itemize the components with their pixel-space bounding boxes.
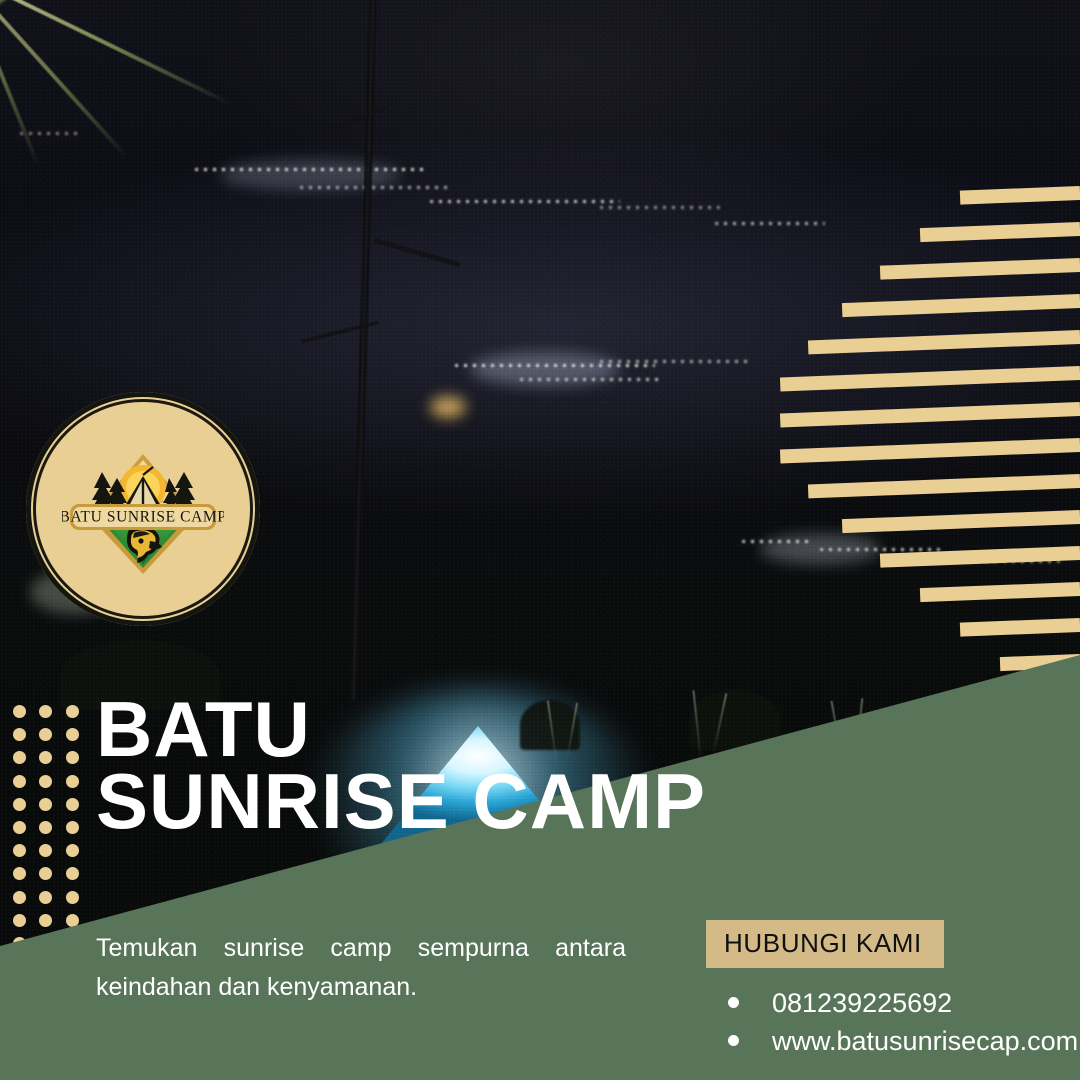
decor-dot	[39, 751, 52, 764]
decor-dot	[39, 775, 52, 788]
contact-phone[interactable]: 081239225692	[728, 984, 1066, 1022]
decor-dot	[39, 798, 52, 811]
logo-wordmark: BATU SUNRISE CAMP	[62, 509, 224, 526]
decor-dot	[13, 914, 26, 927]
contact-section: HUBUNGI KAMI 081239225692 www.batusunris…	[706, 920, 1066, 1061]
logo-badge: BATU SUNRISE CAMP	[26, 392, 260, 626]
logo-emblem-icon: BATU SUNRISE CAMP	[62, 446, 224, 574]
decor-dot	[66, 891, 79, 904]
decor-dot	[13, 891, 26, 904]
poster-canvas: BATU SUNRISE CAMP BATU SUNRISE CAMP Temu…	[0, 0, 1080, 1080]
stripe-decoration	[780, 186, 1080, 706]
title-line-2: SUNRISE CAMP	[96, 766, 876, 838]
contact-badge: HUBUNGI KAMI	[706, 920, 944, 968]
decor-dot	[13, 798, 26, 811]
decor-dot	[13, 867, 26, 880]
contact-list: 081239225692 www.batusunrisecap.com	[706, 984, 1066, 1061]
decor-dot	[39, 844, 52, 857]
decor-dot	[13, 821, 26, 834]
decor-dot	[13, 728, 26, 741]
decor-dot	[66, 844, 79, 857]
page-title: BATU SUNRISE CAMP	[96, 694, 876, 838]
decor-dot	[66, 914, 79, 927]
decor-dot	[39, 867, 52, 880]
decor-dot	[13, 844, 26, 857]
decor-dot	[39, 705, 52, 718]
decor-dot	[13, 751, 26, 764]
contact-website[interactable]: www.batusunrisecap.com	[728, 1022, 1066, 1060]
decor-dot	[66, 728, 79, 741]
decor-dot	[66, 705, 79, 718]
decor-dot	[66, 798, 79, 811]
decor-dot	[66, 821, 79, 834]
description-text: Temukan sunrise camp sempurna antara kei…	[96, 929, 626, 1007]
decor-dot	[39, 821, 52, 834]
decor-dot	[39, 891, 52, 904]
decor-dot	[13, 775, 26, 788]
decor-dot	[66, 775, 79, 788]
decor-dot	[66, 751, 79, 764]
decor-dot	[39, 728, 52, 741]
decor-dot	[13, 705, 26, 718]
decor-dot	[66, 867, 79, 880]
decor-dot	[39, 914, 52, 927]
